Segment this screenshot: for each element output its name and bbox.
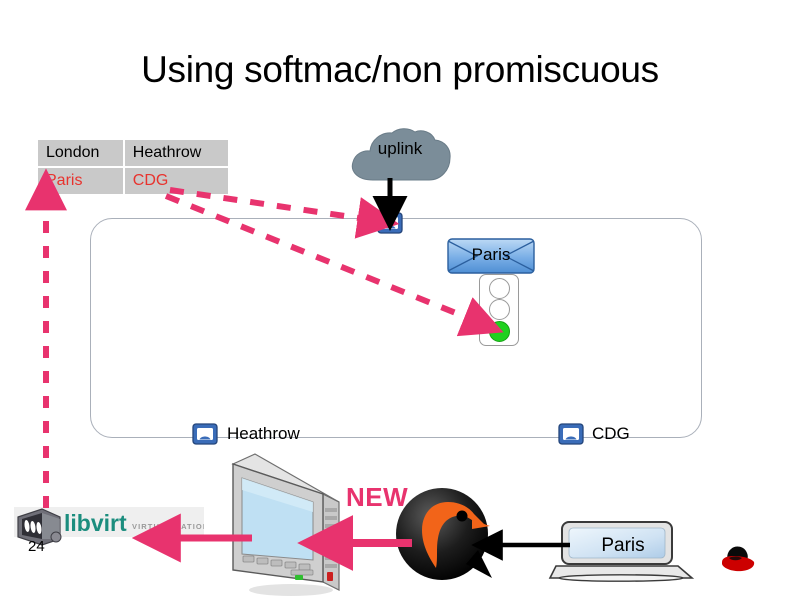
traffic-lamp-middle <box>489 299 510 320</box>
network-port-icon-heathrow[interactable] <box>192 423 218 445</box>
cloud-label: uplink <box>345 139 455 159</box>
network-port-icon[interactable] <box>377 212 403 234</box>
table-cell-port: Heathrow <box>124 140 228 167</box>
table-cell-name: Paris <box>38 167 124 194</box>
slide-canvas: Using softmac/non promiscuous London Hea… <box>0 0 800 600</box>
red-hat-fedora-logo <box>718 543 758 577</box>
network-boundary <box>90 218 702 438</box>
table-cell-port: CDG <box>124 167 228 194</box>
arrow-table-to-uplink <box>170 190 372 220</box>
table-cell-name: London <box>38 140 124 167</box>
mapping-table: London Heathrow Paris CDG <box>38 140 228 194</box>
table-row: Paris CDG <box>38 167 228 194</box>
table-row: London Heathrow <box>38 140 228 167</box>
port-label-cdg: CDG <box>592 424 630 444</box>
qemu-bird-logo <box>392 486 500 584</box>
page-number: 24 <box>28 538 45 555</box>
page-title: Using softmac/non promiscuous <box>0 48 800 92</box>
port-label-heathrow: Heathrow <box>227 424 300 444</box>
server-appliance-icon <box>215 450 355 598</box>
envelope-label: Paris <box>447 245 535 265</box>
traffic-light-indicator <box>479 274 519 346</box>
network-port-icon-cdg[interactable] <box>558 423 584 445</box>
libvirt-tagline: VIRTUALIZATION API <box>132 522 204 531</box>
laptop-label: Paris <box>548 535 698 557</box>
libvirt-wordmark: libvirt <box>64 510 127 536</box>
traffic-lamp-bottom <box>489 321 510 342</box>
traffic-lamp-top <box>489 278 510 299</box>
